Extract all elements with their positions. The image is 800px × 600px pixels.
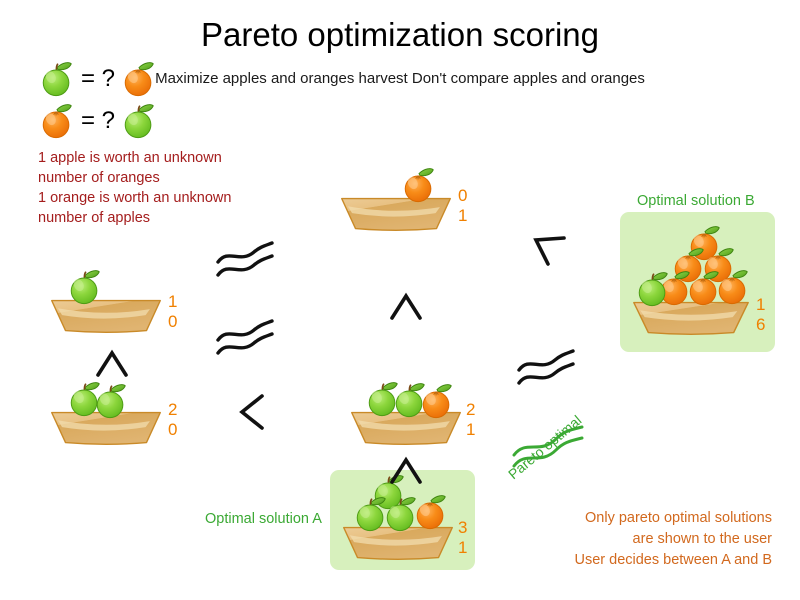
orange-icon xyxy=(400,166,438,204)
score-apples: 2 xyxy=(466,400,475,420)
equation-operator: = ? xyxy=(81,67,115,91)
score-oranges: 0 xyxy=(168,312,177,332)
score-oranges: 1 xyxy=(466,420,475,440)
score-apples: 1 xyxy=(756,295,765,315)
orange-icon xyxy=(418,382,456,420)
unknown-worth-note: 1 apple is worth an unknown number of or… xyxy=(38,148,231,228)
orange-icon xyxy=(38,102,76,140)
solution-a-label: Optimal solution A xyxy=(205,511,322,527)
bowl-2-0-score: 2 0 xyxy=(168,400,177,440)
orange-icon xyxy=(714,268,752,306)
bowl-2-0[interactable] xyxy=(50,410,162,446)
bowl-1-6[interactable] xyxy=(632,300,750,336)
rel-less-1-icon xyxy=(232,390,272,434)
rel-less-dn-1-icon xyxy=(528,230,570,272)
score-apples: 0 xyxy=(458,186,467,206)
bowl-2-1[interactable] xyxy=(350,410,462,446)
rel-less-up-3-icon xyxy=(386,452,426,488)
page-title: Pareto optimization scoring xyxy=(0,16,800,54)
apple-icon xyxy=(38,60,76,98)
score-apples: 1 xyxy=(168,292,177,312)
rel-less-up-1-icon xyxy=(92,345,132,381)
rel-approx-3-icon xyxy=(515,348,581,388)
apple-icon xyxy=(634,270,672,308)
rel-less-up-2-icon xyxy=(386,288,426,324)
legend-equations: = ? = ? xyxy=(38,58,158,142)
rel-approx-2-icon xyxy=(214,318,280,358)
pareto-scoring-diagram: Pareto optimization scoring Maximize app… xyxy=(0,0,800,600)
bowl-0-1-score: 0 1 xyxy=(458,186,467,226)
equation-operator: = ? xyxy=(81,109,115,133)
score-oranges: 1 xyxy=(458,206,467,226)
bowl-0-1[interactable] xyxy=(340,196,452,232)
score-oranges: 1 xyxy=(458,538,467,558)
score-oranges: 6 xyxy=(756,315,765,335)
score-apples: 3 xyxy=(458,518,467,538)
rel-approx-1-icon xyxy=(214,240,280,280)
apple-icon xyxy=(92,382,130,420)
bowl-3-1[interactable] xyxy=(342,525,454,561)
score-oranges: 0 xyxy=(168,420,177,440)
bowl-2-1-score: 2 1 xyxy=(466,400,475,440)
legend-equation-row-2: = ? xyxy=(38,100,158,142)
bowl-3-1-score: 3 1 xyxy=(458,518,467,558)
apple-icon xyxy=(120,102,158,140)
bowl-1-0[interactable] xyxy=(50,298,162,334)
apple-icon xyxy=(66,268,104,306)
solution-b-label: Optimal solution B xyxy=(637,193,755,209)
bowl-1-0-score: 1 0 xyxy=(168,292,177,332)
pareto-user-note: Only pareto optimal solutions are shown … xyxy=(575,508,773,571)
bowl-1-6-score: 1 6 xyxy=(756,295,765,335)
orange-icon xyxy=(120,60,158,98)
orange-icon xyxy=(412,493,450,531)
legend-equation-row-1: = ? xyxy=(38,58,158,100)
score-apples: 2 xyxy=(168,400,177,420)
